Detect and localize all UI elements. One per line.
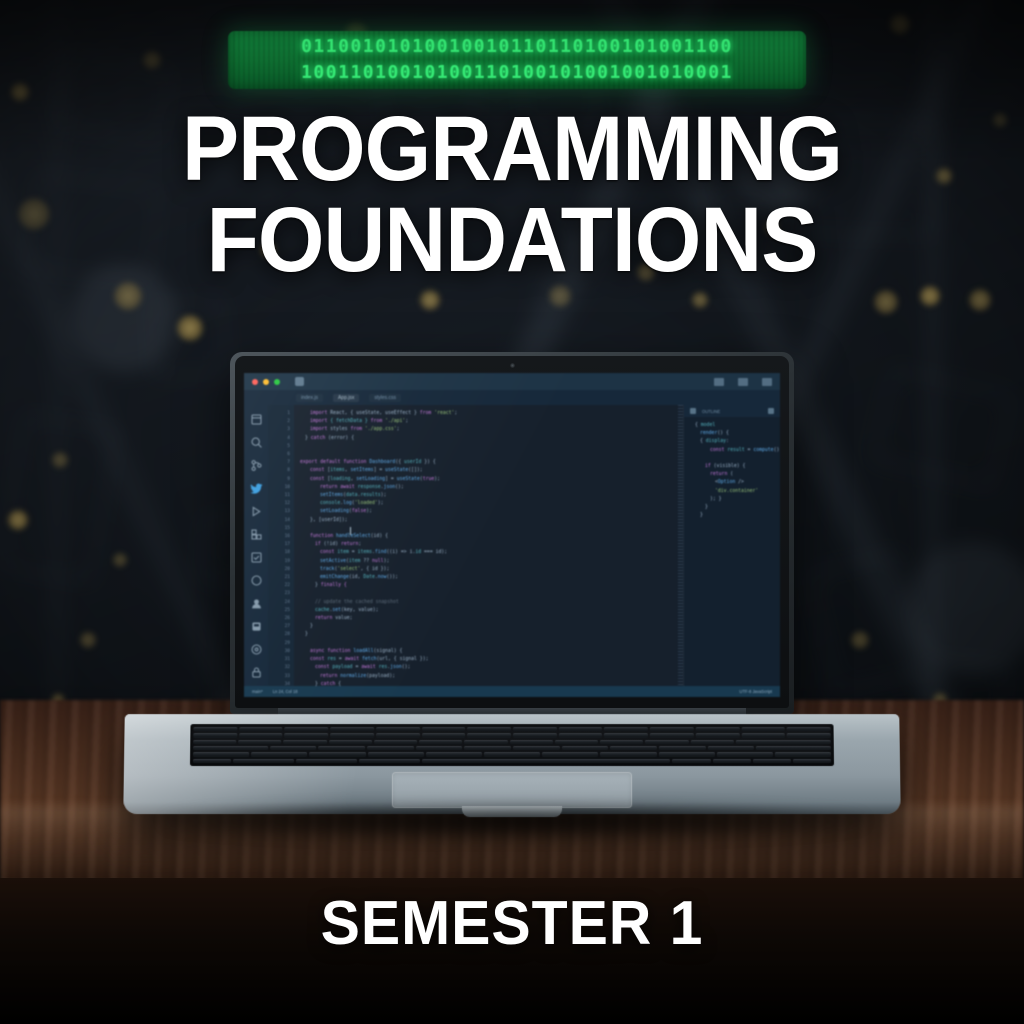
- keyboard-key[interactable]: [645, 740, 688, 744]
- keyboard-row: [193, 740, 831, 744]
- code-line: }: [690, 504, 774, 512]
- keyboard-row: [193, 759, 831, 763]
- split-editor-icon[interactable]: [714, 378, 724, 386]
- keyboard-key[interactable]: [600, 752, 656, 756]
- keyboard-key[interactable]: [604, 727, 648, 731]
- keyboard-key[interactable]: [193, 746, 268, 750]
- side-panel-header: OUTLINE: [684, 405, 780, 417]
- line-number: 4: [268, 435, 290, 443]
- laptop-shadow: [164, 804, 864, 838]
- keyboard-key[interactable]: [270, 746, 317, 750]
- code-line: const [loading, setLoading] = useState(t…: [300, 476, 672, 484]
- outline-icon: [690, 408, 696, 414]
- binary-row-bottom: 10011010010100110100101001001010001: [232, 60, 802, 86]
- code-line: const [items, setItems] = useState([]);: [300, 467, 672, 475]
- code-line: } catch (error) {: [300, 435, 672, 443]
- keyboard-key[interactable]: [330, 727, 374, 731]
- titlebar-actions: [714, 378, 772, 386]
- comment-icon[interactable]: [768, 408, 774, 414]
- code-editor-pane[interactable]: import React, { useState, useEffect } fr…: [294, 405, 678, 686]
- line-number: 33: [268, 673, 290, 681]
- source-control-icon[interactable]: [250, 459, 263, 472]
- editor-title-bar: [244, 373, 780, 390]
- editor-status-bar: main* Ln 24, Col 18 UTF-8 JavaScript: [244, 686, 780, 697]
- line-number: 30: [268, 648, 290, 656]
- keyboard-row: [193, 746, 831, 750]
- code-line: { model: [690, 422, 774, 430]
- keyboard-key[interactable]: [193, 727, 237, 731]
- code-line: setItems(data.results);: [300, 492, 672, 500]
- account-icon[interactable]: [250, 597, 263, 610]
- keyboard-key[interactable]: [513, 746, 560, 750]
- line-number: 21: [268, 574, 290, 582]
- tab-index-js[interactable]: index.js: [296, 394, 323, 402]
- keyboard-key[interactable]: [238, 740, 281, 744]
- status-cursor-position[interactable]: Ln 24, Col 18: [273, 689, 298, 694]
- binary-row-top: 01100101010010010110110100101001100: [232, 34, 802, 60]
- explorer-icon[interactable]: [250, 413, 263, 426]
- search-icon[interactable]: [250, 436, 263, 449]
- code-line: render() {: [690, 430, 774, 438]
- keyboard-key[interactable]: [467, 733, 511, 737]
- code-line: [300, 443, 672, 451]
- laptop: index.js App.jsx styles.css: [124, 352, 900, 832]
- keyboard-key[interactable]: [193, 740, 236, 744]
- code-line: { display:: [690, 438, 774, 446]
- trackpad[interactable]: [392, 772, 632, 808]
- code-line: const res = await fetch(url, { signal })…: [300, 656, 672, 664]
- keyboard-key[interactable]: [542, 752, 598, 756]
- keyboard-key[interactable]: [787, 727, 831, 731]
- keyboard-key[interactable]: [376, 733, 420, 737]
- code-line: return value;: [300, 615, 672, 623]
- code-line: setLoading(false);: [300, 508, 672, 516]
- side-panel-title: OUTLINE: [702, 409, 720, 414]
- code-line: track('select', { id });: [300, 566, 672, 574]
- keyboard[interactable]: [190, 724, 834, 766]
- run-debug-icon[interactable]: [250, 505, 263, 518]
- line-number: 31: [268, 656, 290, 664]
- code-line: [300, 640, 672, 648]
- code-line: const item = items.find((i) => i.id === …: [300, 549, 672, 557]
- code-line: emitChange(id, Date.now());: [300, 574, 672, 582]
- keyboard-key[interactable]: [604, 733, 648, 737]
- course-poster: 01100101010010010110110100101001100 1001…: [0, 0, 1024, 1024]
- line-number: 32: [268, 664, 290, 672]
- code-line: } catch {: [300, 681, 672, 686]
- keyboard-key[interactable]: [659, 746, 706, 750]
- keyboard-key[interactable]: [756, 746, 831, 750]
- side-panel-actions: [768, 408, 774, 414]
- keyboard-key[interactable]: [193, 759, 231, 763]
- code-line: }: [300, 623, 672, 631]
- code-line: }, [userId]);: [300, 517, 672, 525]
- status-branch[interactable]: main*: [252, 689, 263, 694]
- line-number: 23: [268, 590, 290, 598]
- close-button[interactable]: [252, 379, 258, 385]
- remote-icon[interactable]: [250, 574, 263, 587]
- activity-bar: [244, 405, 268, 686]
- keyboard-key[interactable]: [555, 740, 598, 744]
- keyboard-key[interactable]: [422, 733, 466, 737]
- keyboard-key[interactable]: [467, 727, 511, 731]
- line-number-gutter: 1234567891011121314151617181920212223242…: [268, 405, 294, 686]
- line-number: 1: [268, 410, 290, 418]
- panel-layout-icon[interactable]: [738, 378, 748, 386]
- line-number: 12: [268, 500, 290, 508]
- keyboard-key[interactable]: [717, 752, 773, 756]
- line-number: 10: [268, 484, 290, 492]
- lock-icon[interactable]: [250, 666, 263, 679]
- line-number: 20: [268, 566, 290, 574]
- code-line: [690, 455, 774, 463]
- line-number: 29: [268, 640, 290, 648]
- code-line: // update the cached snapshot: [300, 599, 672, 607]
- keyboard-key[interactable]: [285, 727, 329, 731]
- keyboard-key[interactable]: [753, 759, 791, 763]
- testing-icon[interactable]: [250, 551, 263, 564]
- line-number: 15: [268, 525, 290, 533]
- keyboard-key[interactable]: [658, 752, 714, 756]
- code-line: 'div.container': [690, 488, 774, 496]
- laptop-lid: index.js App.jsx styles.css: [230, 352, 794, 714]
- keyboard-key[interactable]: [309, 752, 365, 756]
- keyboard-key[interactable]: [374, 740, 417, 744]
- keyboard-key[interactable]: [696, 733, 740, 737]
- keyboard-key[interactable]: [416, 746, 463, 750]
- line-number: 19: [268, 558, 290, 566]
- line-number: 8: [268, 467, 290, 475]
- editor-workspace: 1234567891011121314151617181920212223242…: [244, 405, 780, 686]
- keyboard-key[interactable]: [696, 727, 740, 731]
- code-line: return (: [690, 471, 774, 479]
- tab-app-jsx[interactable]: App.jsx: [333, 394, 359, 402]
- keyboard-key[interactable]: [672, 759, 710, 763]
- keyboard-key[interactable]: [650, 727, 694, 731]
- minimize-button[interactable]: [263, 379, 269, 385]
- database-icon[interactable]: [250, 620, 263, 633]
- keyboard-key[interactable]: [422, 759, 670, 763]
- code-line: async function loadAll(signal) {: [300, 648, 672, 656]
- line-number: 24: [268, 599, 290, 607]
- keyboard-key[interactable]: [787, 733, 831, 737]
- keyboard-row: [193, 727, 830, 731]
- keyboard-key[interactable]: [559, 727, 603, 731]
- code-line: } finally {: [300, 582, 672, 590]
- laptop-base: [123, 714, 901, 814]
- extensions-icon[interactable]: [250, 528, 263, 541]
- keyboard-key[interactable]: [741, 727, 785, 731]
- code-line: }: [300, 631, 672, 639]
- keyboard-key[interactable]: [329, 740, 372, 744]
- keyboard-key[interactable]: [464, 740, 507, 744]
- screen-bezel: index.js App.jsx styles.css: [235, 356, 789, 708]
- line-number: 28: [268, 631, 290, 639]
- code-line: [300, 451, 672, 459]
- zoom-button[interactable]: [274, 379, 280, 385]
- status-encoding-language[interactable]: UTF-8 JavaScript: [739, 689, 772, 694]
- keyboard-key[interactable]: [285, 733, 329, 737]
- line-number: 17: [268, 541, 290, 549]
- line-number: 27: [268, 623, 290, 631]
- keyboard-key[interactable]: [708, 746, 755, 750]
- keyboard-key[interactable]: [464, 746, 511, 750]
- code-line: import React, { useState, useEffect } fr…: [300, 410, 672, 418]
- keyboard-key[interactable]: [251, 752, 307, 756]
- editor-minimap[interactable]: [678, 405, 683, 686]
- keyboard-key[interactable]: [422, 727, 466, 731]
- outline-side-panel: OUTLINE { modelrender() {{ display:const…: [683, 405, 780, 686]
- keyboard-key[interactable]: [193, 733, 237, 737]
- keyboard-key[interactable]: [793, 759, 831, 763]
- code-line: export default function Dashboard({ user…: [300, 459, 672, 467]
- keyboard-key[interactable]: [562, 746, 609, 750]
- keyboard-key[interactable]: [419, 740, 462, 744]
- keyboard-key[interactable]: [712, 759, 750, 763]
- keyboard-key[interactable]: [610, 746, 657, 750]
- keyboard-row: [193, 733, 830, 737]
- line-number: 22: [268, 582, 290, 590]
- keyboard-key[interactable]: [741, 733, 785, 737]
- keyboard-key[interactable]: [426, 752, 482, 756]
- grid-layout-icon[interactable]: [762, 378, 772, 386]
- keyboard-key[interactable]: [600, 740, 643, 744]
- side-panel-code: { modelrender() {{ display:const result …: [684, 417, 780, 525]
- code-line: if (!id) return;: [300, 541, 672, 549]
- keyboard-key[interactable]: [367, 746, 414, 750]
- line-number: 26: [268, 615, 290, 623]
- code-line: return await response.json();: [300, 484, 672, 492]
- code-line: [300, 525, 672, 533]
- keyboard-key[interactable]: [368, 752, 424, 756]
- semester-label: SEMESTER 1: [26, 888, 999, 959]
- line-number: 25: [268, 607, 290, 615]
- line-number: 5: [268, 443, 290, 451]
- code-line: }: [690, 512, 774, 520]
- line-number: 13: [268, 508, 290, 516]
- tab-styles-css[interactable]: styles.css: [369, 394, 401, 402]
- twitter-bird-icon[interactable]: [250, 482, 263, 495]
- line-number: 9: [268, 476, 290, 484]
- code-line: import { fetchData } from './api';: [300, 418, 672, 426]
- text-cursor: [350, 527, 351, 535]
- keyboard-key[interactable]: [359, 759, 420, 763]
- line-number: 18: [268, 549, 290, 557]
- code-line: function handleSelect(id) {: [300, 533, 672, 541]
- keyboard-key[interactable]: [736, 740, 831, 744]
- keyboard-key[interactable]: [233, 759, 294, 763]
- laptop-screen: index.js App.jsx styles.css: [244, 373, 780, 697]
- keyboard-key[interactable]: [510, 740, 553, 744]
- keyboard-key[interactable]: [484, 752, 540, 756]
- code-line: import styles from './app.css';: [300, 426, 672, 434]
- keyboard-key[interactable]: [513, 733, 557, 737]
- line-number: 3: [268, 426, 290, 434]
- keyboard-key[interactable]: [690, 740, 733, 744]
- code-line: cache.set(key, value);: [300, 607, 672, 615]
- line-number: 2: [268, 418, 290, 426]
- code-line: <Option />: [690, 479, 774, 487]
- keyboard-key[interactable]: [318, 746, 365, 750]
- keyboard-key[interactable]: [650, 733, 694, 737]
- keyboard-key[interactable]: [193, 752, 249, 756]
- code-line: return normalize(payload);: [300, 673, 672, 681]
- app-logo-icon: [295, 377, 304, 386]
- keyboard-key[interactable]: [330, 733, 374, 737]
- keyboard-key[interactable]: [376, 727, 420, 731]
- keyboard-key[interactable]: [559, 733, 603, 737]
- code-line: const result = compute();: [690, 447, 774, 455]
- code-line: const payload = await res.json();: [300, 664, 672, 672]
- keyboard-key[interactable]: [284, 740, 327, 744]
- keyboard-key[interactable]: [296, 759, 357, 763]
- line-number: 6: [268, 451, 290, 459]
- code-line: [300, 590, 672, 598]
- line-number: 16: [268, 533, 290, 541]
- webcam-icon: [510, 363, 515, 368]
- keyboard-row: [193, 752, 831, 756]
- editor-tab-bar: index.js App.jsx styles.css: [244, 390, 780, 405]
- keyboard-key[interactable]: [513, 727, 557, 731]
- line-number: 7: [268, 459, 290, 467]
- keyboard-key[interactable]: [239, 727, 283, 731]
- keyboard-key[interactable]: [239, 733, 283, 737]
- code-line: if (visible) {: [690, 463, 774, 471]
- line-number: 14: [268, 517, 290, 525]
- code-line: setActive(item ?? null);: [300, 558, 672, 566]
- binary-code-banner: 01100101010010010110110100101001100 1001…: [228, 31, 806, 89]
- line-number: 11: [268, 492, 290, 500]
- code-line: ); }: [690, 496, 774, 504]
- code-line: console.log('loaded');: [300, 500, 672, 508]
- settings-gear-icon[interactable]: [250, 643, 263, 656]
- keyboard-key[interactable]: [775, 752, 831, 756]
